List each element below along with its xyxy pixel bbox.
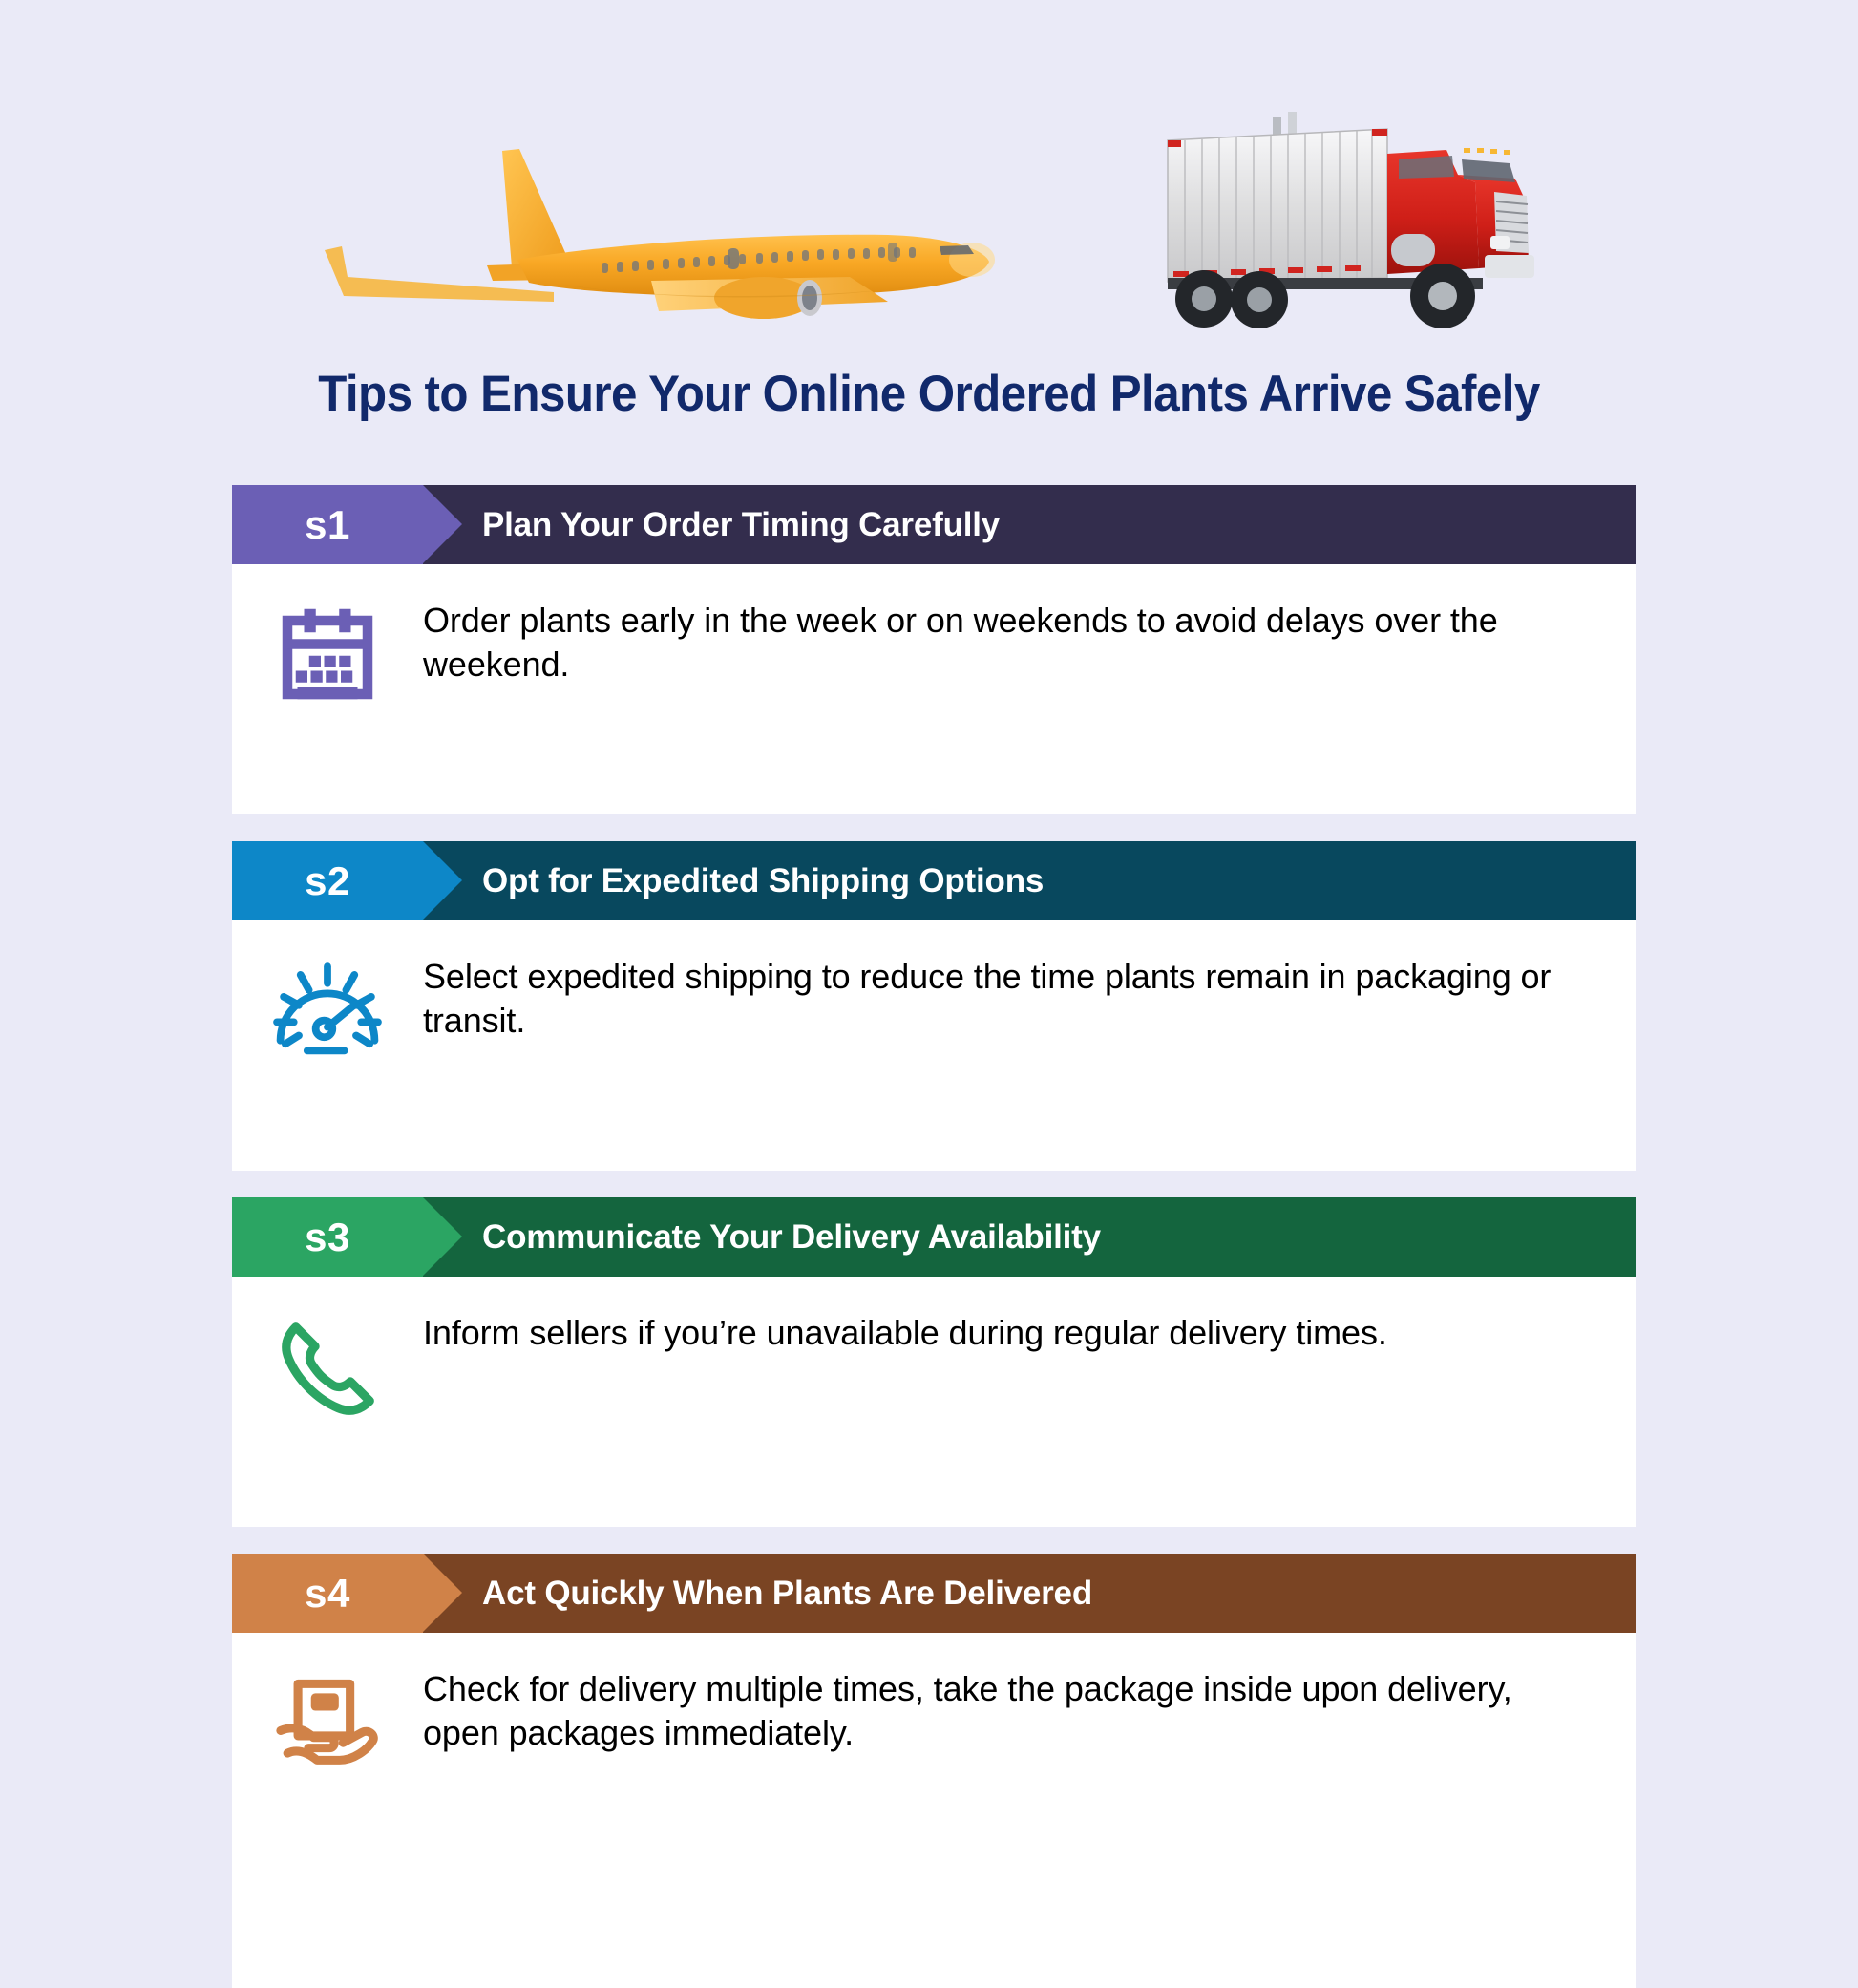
step-body-4: Check for delivery multiple times, take … — [232, 1633, 1636, 1883]
step-divider — [232, 1171, 1636, 1197]
step-title-1: Plan Your Order Timing Carefully — [423, 485, 1636, 564]
step-divider — [232, 1527, 1636, 1554]
step-banner-2: s2 Opt for Expedited Shipping Options — [232, 841, 1636, 920]
page-title: Tips to Ensure Your Online Ordered Plant… — [65, 365, 1793, 423]
step-body-3: Inform sellers if you’re unavailable dur… — [232, 1277, 1636, 1527]
step-icon-cell-1 — [232, 595, 423, 712]
step-number-label: s3 — [305, 1215, 350, 1260]
step-banner-4: s4 Act Quickly When Plants Are Delivered — [232, 1554, 1636, 1633]
step-banner-3: s3 Communicate Your Delivery Availabilit… — [232, 1197, 1636, 1277]
truck-image — [1160, 100, 1561, 344]
step-description-4: Check for delivery multiple times, take … — [423, 1663, 1636, 1755]
step-description-1: Order plants early in the week or on wee… — [423, 595, 1636, 687]
step-number-tab-4: s4 — [232, 1554, 423, 1633]
step-banner-1: s1 Plan Your Order Timing Carefully — [232, 485, 1636, 564]
airplane-image — [315, 134, 1012, 334]
step-number-label: s1 — [305, 502, 350, 548]
step-icon-cell-3 — [232, 1307, 423, 1430]
step-number-label: s2 — [305, 858, 350, 904]
step-title-2: Opt for Expedited Shipping Options — [423, 841, 1636, 920]
step-number-label: s4 — [305, 1571, 350, 1617]
step-number-tab-3: s3 — [232, 1197, 423, 1277]
step-number-tab-2: s2 — [232, 841, 423, 920]
step-icon-cell-2 — [232, 951, 423, 1068]
phone-icon — [271, 1313, 384, 1430]
step-title-3: Communicate Your Delivery Availability — [423, 1197, 1636, 1277]
step-body-2: Select expedited shipping to reduce the … — [232, 920, 1636, 1171]
step-number-tab-1: s1 — [232, 485, 423, 564]
step-description-3: Inform sellers if you’re unavailable dur… — [423, 1307, 1636, 1355]
step-divider — [232, 814, 1636, 841]
step-title-4: Act Quickly When Plants Are Delivered — [423, 1554, 1636, 1633]
step-icon-cell-4 — [232, 1663, 423, 1787]
step-card-2: s2 Opt for Expedited Shipping Options — [232, 841, 1636, 1171]
package-in-hand-icon — [270, 1669, 385, 1787]
hero-illustrations — [0, 0, 1858, 353]
step-description-2: Select expedited shipping to reduce the … — [423, 951, 1636, 1043]
card-bottom-padding — [232, 1883, 1636, 1988]
step-card-1: s1 Plan Your Order Timing Carefully — [232, 485, 1636, 814]
step-card-3: s3 Communicate Your Delivery Availabilit… — [232, 1197, 1636, 1527]
calendar-icon — [274, 601, 381, 712]
step-card-4: s4 Act Quickly When Plants Are Delivered — [232, 1554, 1636, 1988]
steps-list: s1 Plan Your Order Timing Carefully — [232, 485, 1636, 1988]
step-body-1: Order plants early in the week or on wee… — [232, 564, 1636, 814]
speedometer-icon — [270, 957, 385, 1068]
